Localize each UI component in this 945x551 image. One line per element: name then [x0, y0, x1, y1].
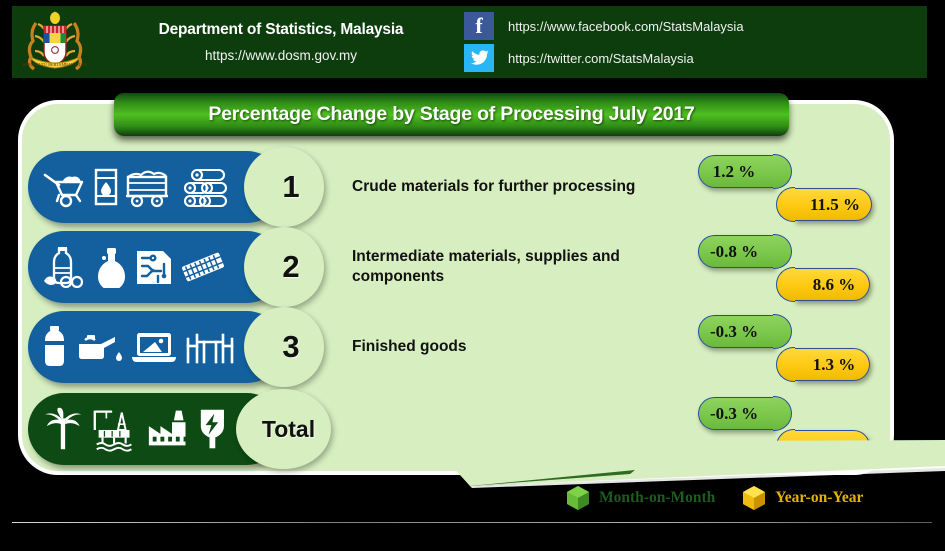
- total-label-badge: Total: [236, 389, 331, 469]
- fabric-roll-icon: [179, 246, 227, 288]
- month-on-month-badge: 1.2 %: [698, 155, 774, 188]
- twitter-link-row[interactable]: https://twitter.com/StatsMalaysia: [464, 44, 744, 72]
- stage-row: 1 Crude materials for further processing…: [22, 151, 898, 223]
- table-chairs-icon: [183, 326, 235, 368]
- oil-can-icon: [73, 326, 125, 368]
- stage-number: 2: [282, 249, 299, 285]
- year-on-year-badge: 11.5 %: [794, 188, 872, 221]
- stage-row: 2 Intermediate materials, supplies and c…: [22, 231, 898, 303]
- month-on-month-badge: -0.3 %: [698, 397, 774, 430]
- page-title: Percentage Change by Stage of Processing…: [208, 103, 694, 126]
- oil-drum-icon: [93, 167, 119, 207]
- page-header: BERSEKUTU BERTAMBAH MUTU Department of S…: [12, 6, 927, 78]
- factory-icon: [145, 406, 191, 452]
- twitter-url[interactable]: https://twitter.com/StatsMalaysia: [508, 51, 694, 66]
- chemical-flask-icon: [95, 246, 129, 288]
- stage-number: 1: [282, 169, 299, 205]
- electric-plug-icon: [196, 406, 229, 452]
- stage-row: 3 Finished goods -0.3 % 1.3 %: [22, 311, 898, 383]
- circuit-board-icon: [134, 246, 174, 288]
- social-links: f https://www.facebook.com/StatsMalaysia…: [464, 12, 744, 72]
- mining-cart-icon: [124, 166, 176, 208]
- legend-item-year-on-year: Year-on-Year: [741, 485, 863, 511]
- stage-number-badge: 3: [244, 307, 324, 387]
- org-identity: Department of Statistics, Malaysia https…: [106, 21, 456, 63]
- stage-description: Intermediate materials, supplies and com…: [352, 231, 682, 303]
- org-name: Department of Statistics, Malaysia: [106, 21, 456, 39]
- hexagon-yellow-icon: [741, 485, 767, 511]
- facebook-icon[interactable]: f: [464, 12, 494, 40]
- year-on-year-badge: 8.6 %: [794, 268, 870, 301]
- legend: Month-on-Month Year-on-Year: [565, 482, 925, 514]
- facebook-url[interactable]: https://www.facebook.com/StatsMalaysia: [508, 19, 744, 34]
- legend-label-year-on-year: Year-on-Year: [775, 489, 863, 507]
- month-on-month-badge: -0.8 %: [698, 235, 774, 268]
- total-label: Total: [262, 416, 315, 443]
- plastic-bottle-icon: [42, 246, 90, 288]
- legend-label-month-on-month: Month-on-Month: [599, 489, 715, 507]
- facebook-link-row[interactable]: f https://www.facebook.com/StatsMalaysia: [464, 12, 744, 40]
- water-bottle-icon: [42, 325, 68, 369]
- main-card: 1 Crude materials for further processing…: [18, 100, 894, 475]
- oil-rig-icon: [89, 406, 139, 452]
- palm-tree-icon: [42, 406, 84, 452]
- bottom-divider: [12, 522, 932, 523]
- laptop-icon: [130, 326, 178, 368]
- title-banner: Percentage Change by Stage of Processing…: [114, 93, 789, 136]
- wheelbarrow-icon: [42, 166, 88, 208]
- malaysia-coat-of-arms-icon: BERSEKUTU BERTAMBAH MUTU: [18, 9, 92, 75]
- year-on-year-badge: 1.3 %: [794, 348, 870, 381]
- org-website-url: https://www.dosm.gov.my: [106, 48, 456, 63]
- legend-item-month-on-month: Month-on-Month: [565, 485, 715, 511]
- logs-stack-icon: [181, 166, 235, 208]
- hexagon-green-icon: [565, 485, 591, 511]
- month-on-month-badge: -0.3 %: [698, 315, 774, 348]
- stage-number-badge: 2: [244, 227, 324, 307]
- stage-description: Finished goods: [352, 311, 682, 383]
- svg-text:BERSEKUTU BERTAMBAH MUTU: BERSEKUTU BERTAMBAH MUTU: [23, 62, 88, 67]
- twitter-icon[interactable]: [464, 44, 494, 72]
- stage-number-badge: 1: [244, 147, 324, 227]
- stage-number: 3: [282, 329, 299, 365]
- stage-description: Crude materials for further processing: [352, 151, 682, 223]
